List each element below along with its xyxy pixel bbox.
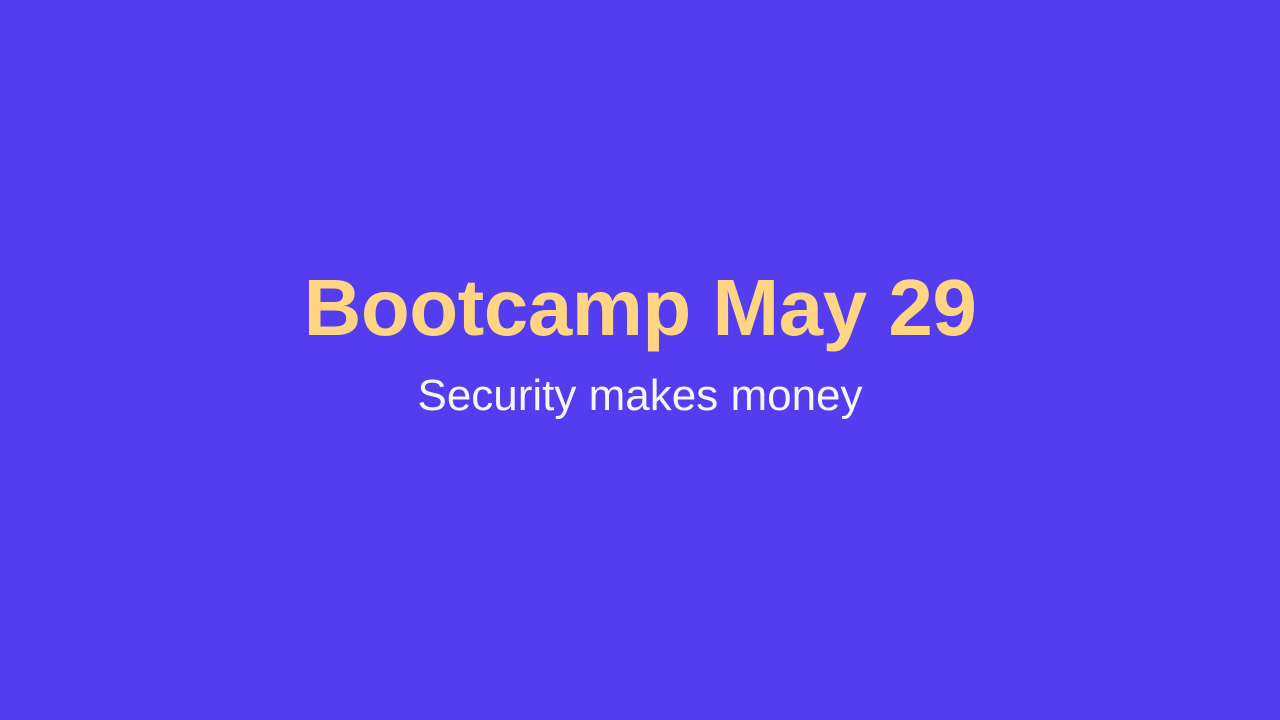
- slide-content-block: Bootcamp May 29 Security makes money: [0, 0, 1280, 720]
- slide-title: Bootcamp May 29: [0, 268, 1280, 348]
- slide-subtitle: Security makes money: [0, 374, 1280, 418]
- presentation-slide: Bootcamp May 29 Security makes money: [0, 0, 1280, 720]
